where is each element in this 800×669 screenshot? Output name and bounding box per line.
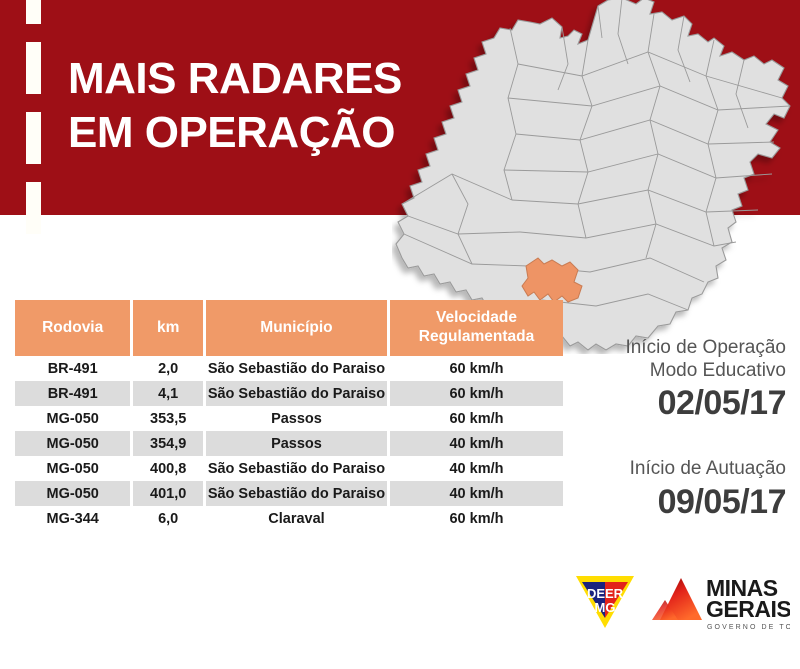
- cell-rodovia: MG-050: [15, 406, 130, 431]
- mg-logo-line2: GERAIS: [706, 596, 790, 622]
- column-header-velocidade: Velocidade Regulamentada: [390, 300, 563, 356]
- dates-panel: Início de Operação Modo Educativo 02/05/…: [576, 336, 786, 556]
- lane-dash: [26, 42, 41, 94]
- radar-table: Rodovia km Município Velocidade Regulame…: [15, 300, 563, 531]
- table-row: MG-050 354,9 Passos 40 km/h: [15, 431, 563, 456]
- table-row: MG-050 353,5 Passos 60 km/h: [15, 406, 563, 431]
- cell-km: 354,9: [133, 431, 203, 456]
- cell-velocidade: 60 km/h: [390, 381, 563, 406]
- infographic-root: MAIS RADARES EM OPERAÇÃO: [0, 0, 800, 669]
- cell-rodovia: BR-491: [15, 381, 130, 406]
- cell-km: 4,1: [133, 381, 203, 406]
- lane-dash: [26, 112, 41, 164]
- cell-rodovia: MG-344: [15, 506, 130, 531]
- column-header-rodovia: Rodovia: [15, 300, 130, 356]
- date-block-operacao: Início de Operação Modo Educativo 02/05/…: [576, 336, 786, 423]
- cell-rodovia: MG-050: [15, 481, 130, 506]
- date-label-autuacao: Início de Autuação: [576, 457, 786, 480]
- date-value-autuacao: 09/05/17: [576, 483, 786, 522]
- date-block-autuacao: Início de Autuação 09/05/17: [576, 457, 786, 521]
- cell-km: 353,5: [133, 406, 203, 431]
- date-label-operacao: Início de Operação Modo Educativo: [576, 336, 786, 382]
- page-title: MAIS RADARES EM OPERAÇÃO: [68, 52, 402, 159]
- logo-bar: DEER MG MINAS GERAIS GOVERNO DE TODOS: [570, 570, 790, 636]
- cell-velocidade: 40 km/h: [390, 431, 563, 456]
- cell-municipio: São Sebastião do Paraiso: [206, 456, 387, 481]
- cell-velocidade: 40 km/h: [390, 456, 563, 481]
- lane-dash: [26, 182, 41, 234]
- cell-municipio: São Sebastião do Paraiso: [206, 381, 387, 406]
- cell-rodovia: MG-050: [15, 431, 130, 456]
- cell-municipio: Passos: [206, 431, 387, 456]
- table-row: BR-491 2,0 São Sebastião do Paraiso 60 k…: [15, 356, 563, 381]
- table-header-row: Rodovia km Município Velocidade Regulame…: [15, 300, 563, 356]
- minas-gerais-logo: MINAS GERAIS GOVERNO DE TODOS: [650, 570, 790, 634]
- deer-logo-line2: MG: [595, 600, 616, 615]
- cell-velocidade: 40 km/h: [390, 481, 563, 506]
- cell-rodovia: MG-050: [15, 456, 130, 481]
- lane-marking-decoration: [26, 0, 41, 215]
- cell-municipio: Claraval: [206, 506, 387, 531]
- table-row: MG-050 401,0 São Sebastião do Paraiso 40…: [15, 481, 563, 506]
- deer-mg-logo: DEER MG: [574, 572, 636, 630]
- cell-km: 400,8: [133, 456, 203, 481]
- column-header-municipio: Município: [206, 300, 387, 356]
- table-body: BR-491 2,0 São Sebastião do Paraiso 60 k…: [15, 356, 563, 531]
- cell-municipio: São Sebastião do Paraiso: [206, 356, 387, 381]
- deer-logo-line1: DEER: [587, 586, 624, 601]
- cell-velocidade: 60 km/h: [390, 356, 563, 381]
- cell-rodovia: BR-491: [15, 356, 130, 381]
- cell-municipio: Passos: [206, 406, 387, 431]
- column-header-km: km: [133, 300, 203, 356]
- cell-municipio: São Sebastião do Paraiso: [206, 481, 387, 506]
- table-row: MG-050 400,8 São Sebastião do Paraiso 40…: [15, 456, 563, 481]
- cell-velocidade: 60 km/h: [390, 406, 563, 431]
- table-row: MG-344 6,0 Claraval 60 km/h: [15, 506, 563, 531]
- cell-km: 2,0: [133, 356, 203, 381]
- cell-velocidade: 60 km/h: [390, 506, 563, 531]
- date-value-operacao: 02/05/17: [576, 384, 786, 423]
- lane-dash: [26, 0, 41, 24]
- table-row: BR-491 4,1 São Sebastião do Paraiso 60 k…: [15, 381, 563, 406]
- mg-logo-tagline: GOVERNO DE TODOS: [707, 624, 790, 631]
- cell-km: 401,0: [133, 481, 203, 506]
- cell-km: 6,0: [133, 506, 203, 531]
